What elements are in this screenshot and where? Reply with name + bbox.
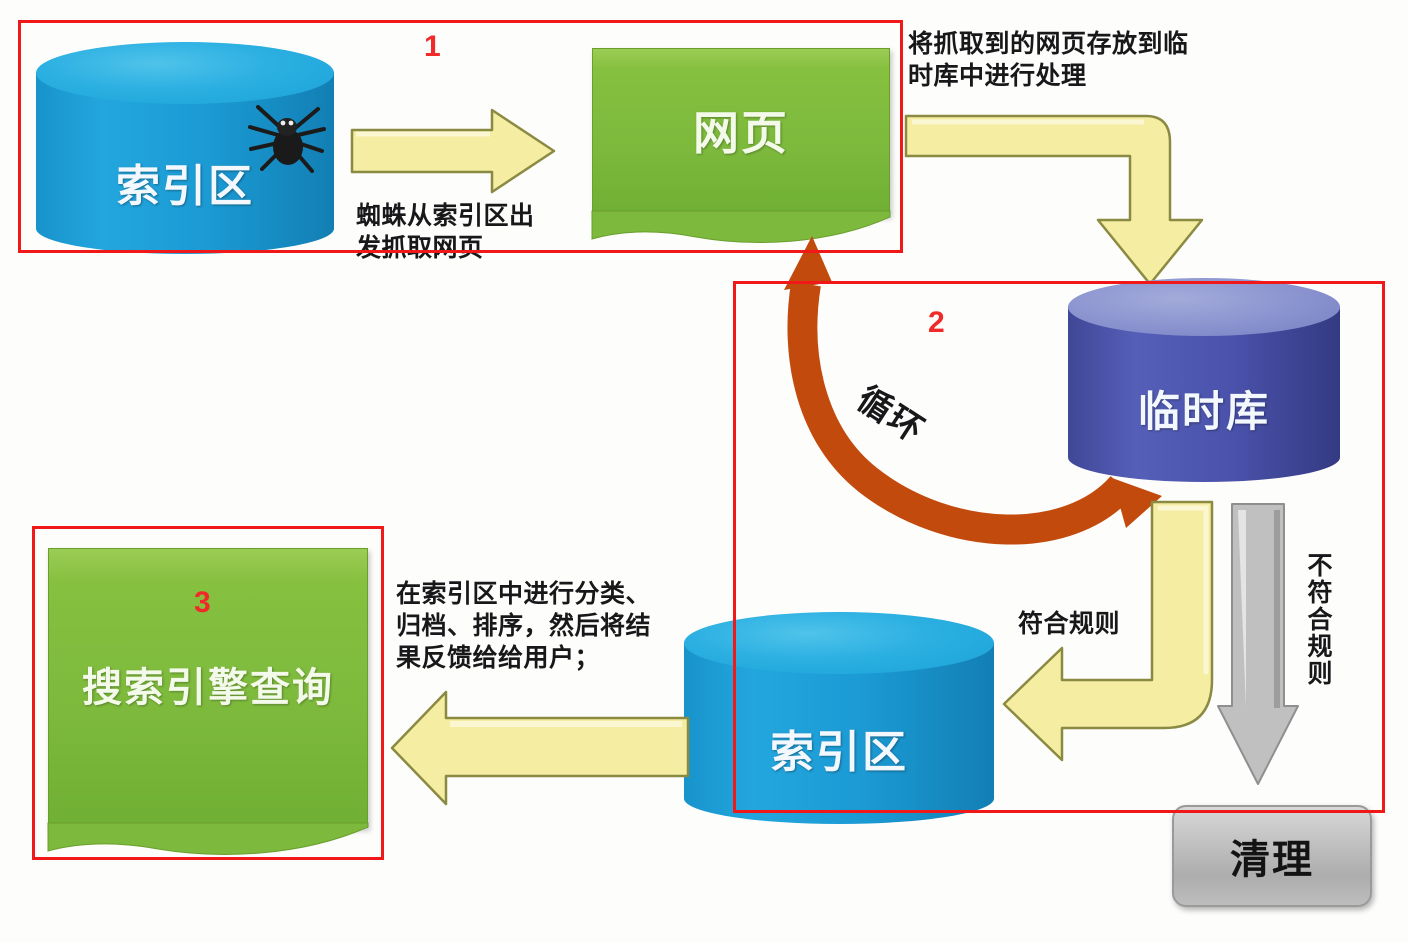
arrow-not-match-rule	[1216, 500, 1300, 790]
caption-store-to-temp: 将抓取到的网页存放到临 时库中进行处理	[908, 28, 1244, 92]
caption-index-sort-feedback: 在索引区中进行分类、 归档、排序，然后将结 果反馈给给用户；	[396, 578, 656, 674]
cylinder-top	[684, 612, 994, 674]
spider-icon	[242, 95, 328, 179]
node-label: 网页	[593, 97, 889, 163]
arrow-feedback-left	[390, 688, 690, 810]
arrow-crawl-right	[350, 108, 556, 194]
node-label: 索引区	[684, 716, 994, 780]
annotation-label-3: 3	[194, 588, 211, 618]
caption-not-match-rule: 不符合规则	[1302, 552, 1334, 687]
node-webpage: 网页	[592, 48, 890, 216]
document-wave-edge	[48, 823, 368, 853]
node-index-zone-bottom: 索引区	[684, 612, 994, 824]
node-cleanup: 清理	[1172, 805, 1372, 907]
annotation-label-2: 2	[928, 308, 945, 338]
caption-spider-crawl: 蜘蛛从索引区出 发抓取网页	[356, 200, 576, 264]
annotation-label-1: 1	[424, 32, 441, 62]
caption-match-rule: 符合规则	[1018, 608, 1120, 640]
node-label: 搜索引擎查询	[49, 655, 367, 713]
diagram-canvas: 索引区 蜘蛛从索引区出 发抓取网页 网页 将抓取	[0, 0, 1408, 942]
node-label: 清理	[1230, 827, 1314, 885]
